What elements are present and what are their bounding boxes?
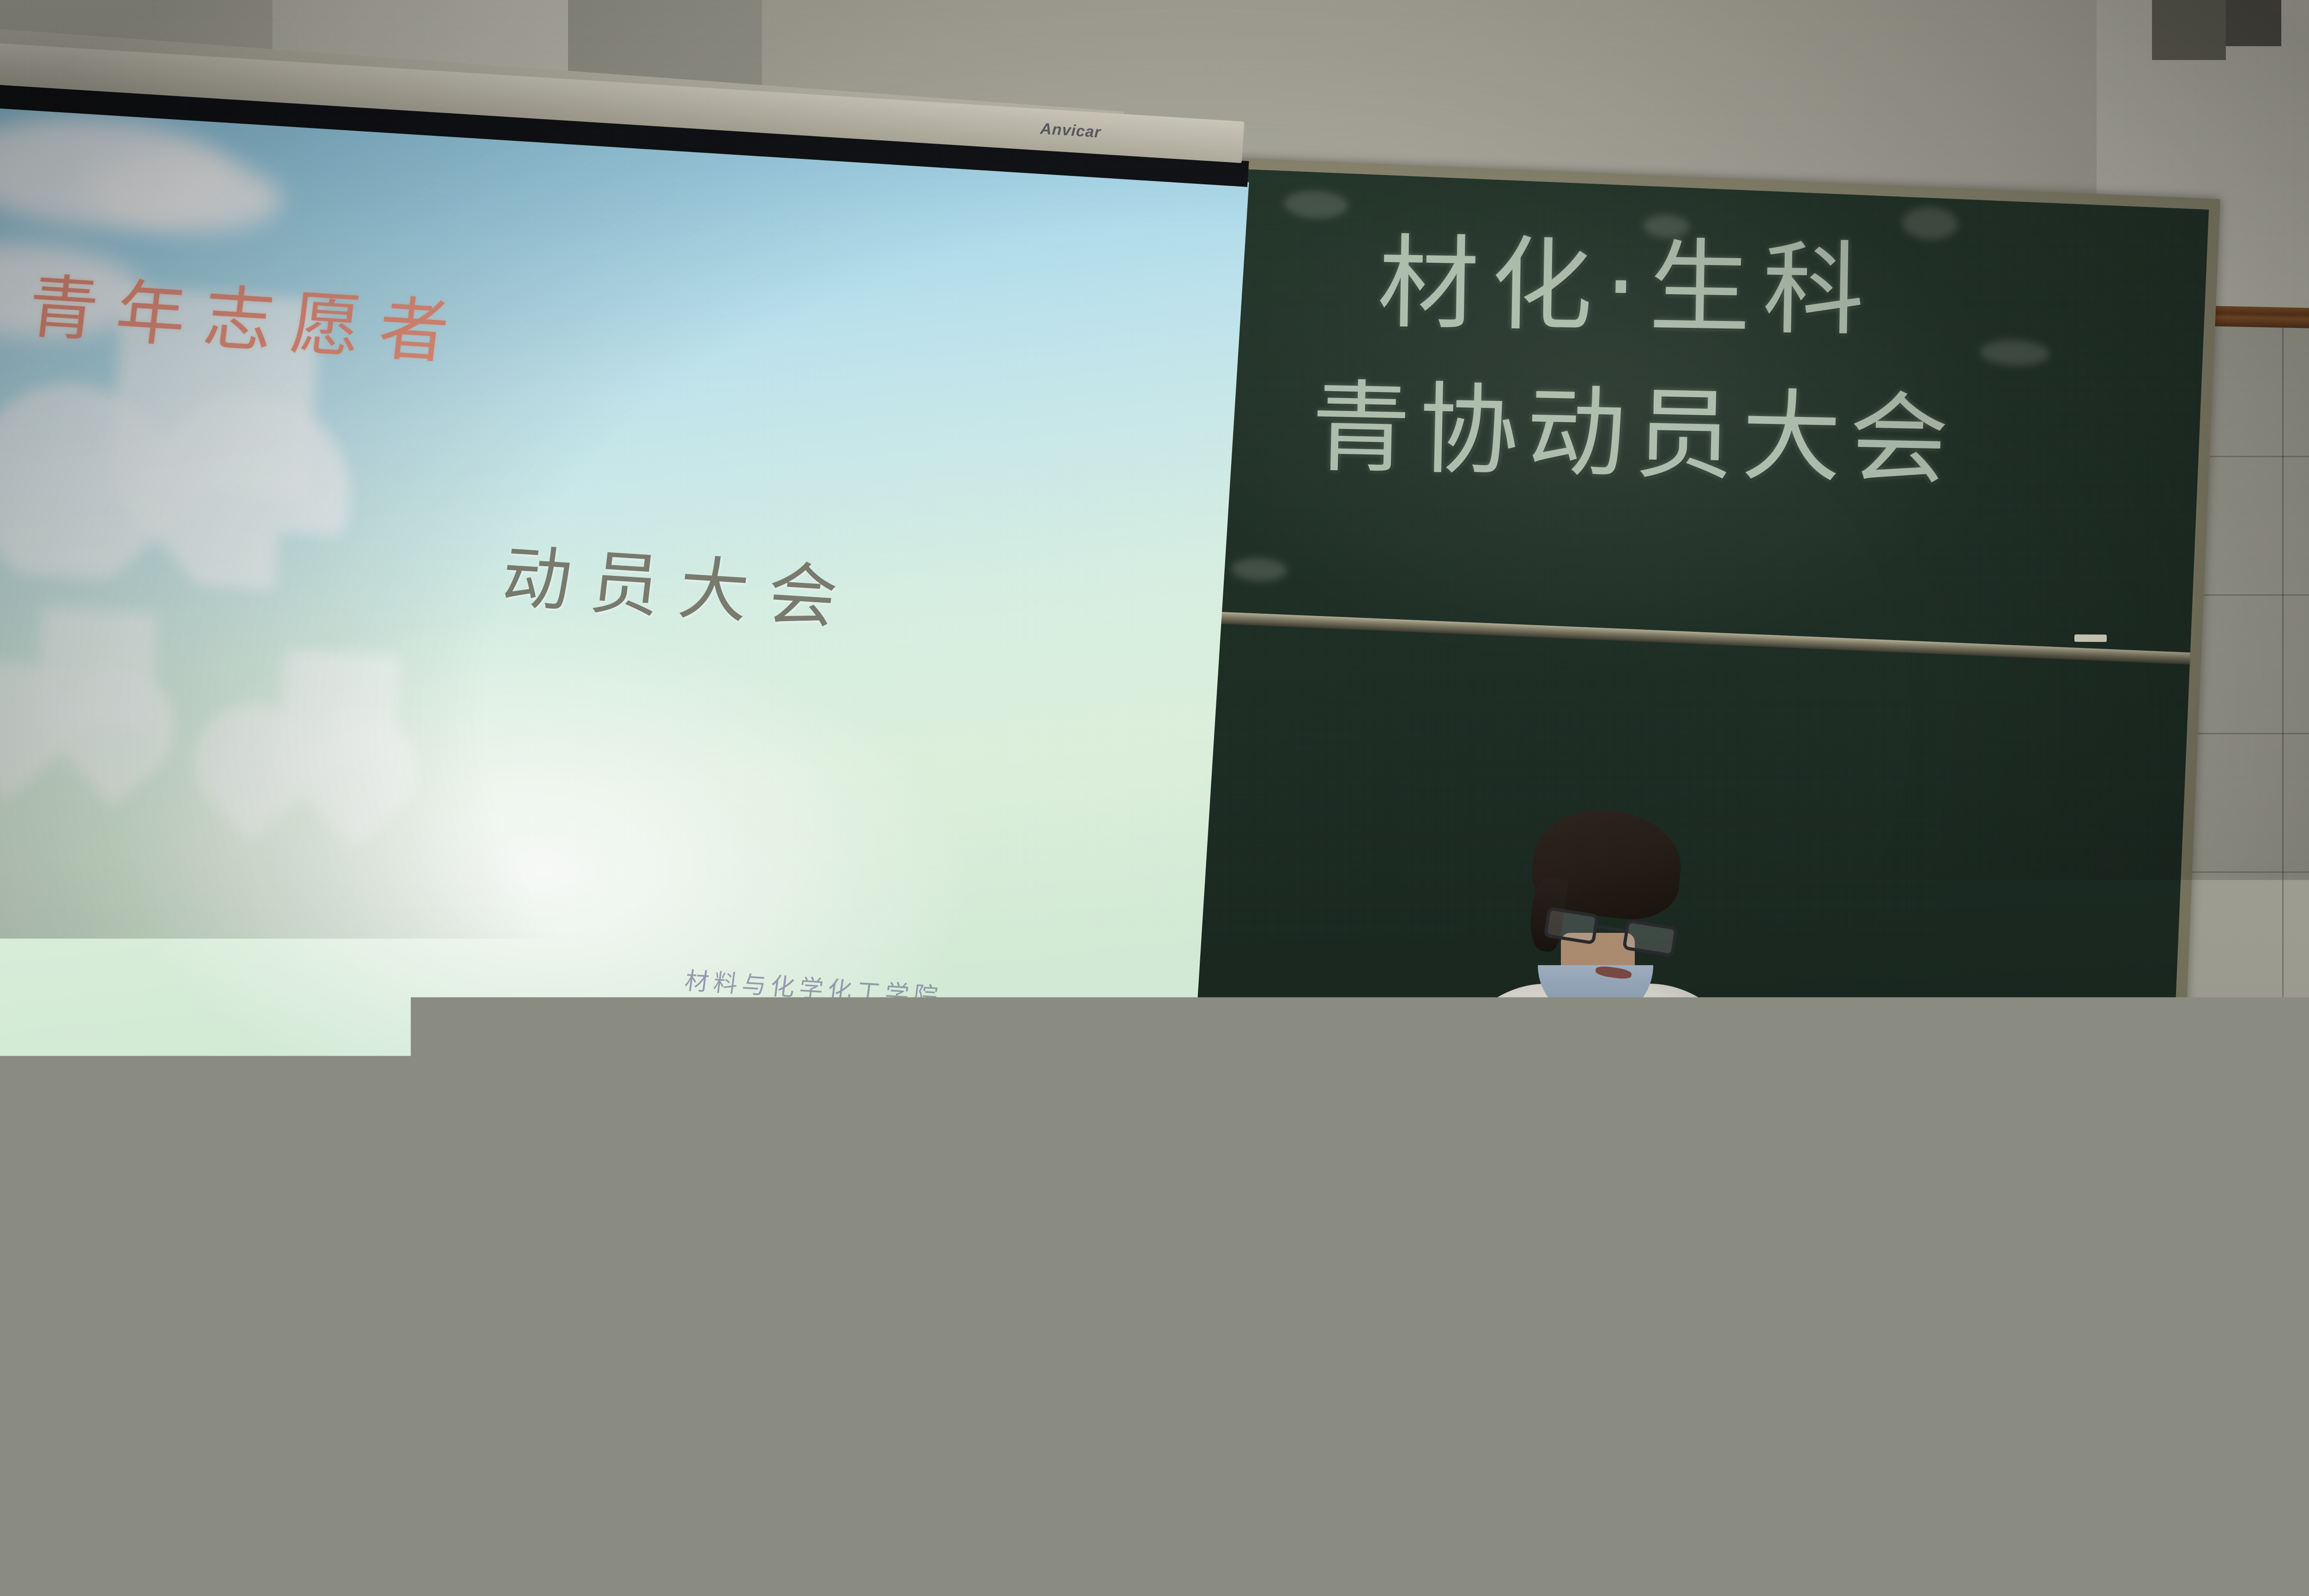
tissue-sheet[interactable] [1226, 1287, 1332, 1318]
tissue-box[interactable] [1217, 1307, 1367, 1398]
wooden-chair[interactable] [18, 1422, 171, 1596]
classroom-scene: Anvicar 青年志愿者 动员大会 材料与化学化工学院 生命与环境科学学院 材… [0, 0, 2309, 1596]
tissue-box-stripe-yellow [1286, 1307, 1366, 1398]
blackboard-divider-rail [1211, 611, 2190, 665]
desk-vent-slot [1445, 1566, 1505, 1578]
chalk-piece[interactable] [891, 1390, 914, 1398]
blackboard-text-line-2: 青协动员大会 [1311, 378, 1958, 490]
chalk-smudge [1231, 557, 1287, 582]
desk-front-left [393, 1372, 1016, 1596]
chair-slat [52, 1441, 73, 1596]
desk-surface-right [1953, 1247, 2309, 1283]
tissue-box-stripe-green [1217, 1307, 1283, 1398]
right-wall-recess-a [2152, 0, 2226, 60]
glasses-bridge [1597, 925, 1626, 932]
chalk-smudge [1283, 189, 1349, 220]
heart-graphic-small-right [278, 649, 400, 772]
chalk-piece[interactable] [526, 1369, 562, 1378]
projector-brand-label: Anvicar [1040, 120, 1101, 142]
chalk-smudge [1980, 339, 2050, 367]
slide-org-line-1: 材料与化学化工学院 [683, 961, 945, 1012]
projection-screen-surface: 青年志愿者 动员大会 材料与化学化工学院 生命与环境科学学院 [0, 103, 1249, 1196]
chalk-piece[interactable] [2074, 635, 2107, 642]
speaker-torso [1450, 984, 1746, 1270]
right-wall-recess-b [2226, 0, 2281, 46]
blackboard-text-line-1: 材化·生科 [1377, 232, 1877, 342]
chair-side-left [16, 1436, 43, 1596]
chair-slat [85, 1441, 106, 1596]
chair-side-right [123, 1436, 151, 1596]
slide-title: 青年志愿者 [25, 272, 471, 369]
slide-subtitle: 动员大会 [498, 543, 860, 634]
heart-graphic-small-left [35, 606, 157, 728]
audience-hair-highlight [1672, 1353, 1727, 1519]
audience-head-middle [1856, 1390, 2050, 1596]
slide-org-line-2: 生命与环境科学学院 [686, 1054, 948, 1105]
chalk-smudge [1902, 206, 1958, 241]
